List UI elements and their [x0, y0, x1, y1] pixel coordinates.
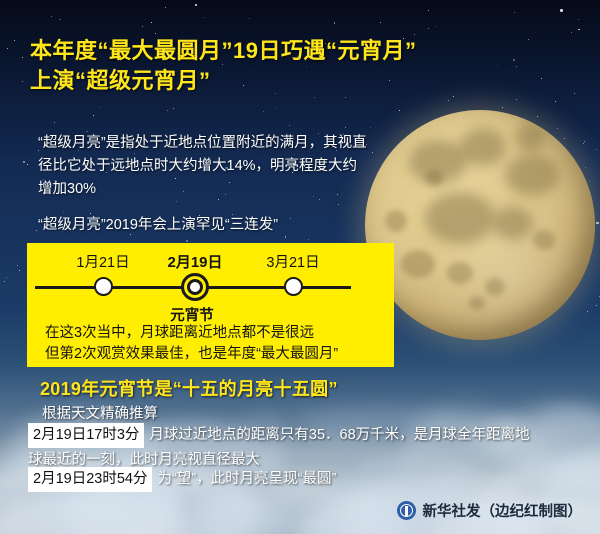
star-dot: [589, 181, 590, 182]
star-dot: [155, 33, 156, 34]
star-dot: [528, 39, 529, 40]
section-heading: 2019年元宵节是“十五的月亮十五圆”: [40, 375, 338, 401]
star-dot: [275, 108, 276, 109]
star-dot: [370, 127, 371, 128]
star-dot: [63, 211, 64, 212]
star-dot: [285, 236, 287, 238]
headline-line-1: 本年度“最大最圆月”19日巧遇“元宵月”: [30, 36, 450, 66]
star-dot: [596, 222, 598, 224]
star-dot: [17, 265, 18, 266]
festival-label: 元宵节: [27, 304, 357, 325]
star-dot: [372, 152, 373, 153]
cloud-wisp: [190, 489, 283, 534]
star-dot: [203, 17, 205, 19]
star-dot: [100, 107, 101, 108]
star-dot: [195, 4, 197, 6]
timeline-node-2[interactable]: [181, 273, 209, 301]
star-dot: [338, 204, 339, 205]
star-dot: [537, 116, 538, 117]
fact-2-text: 为“望”，此时月亮呈现“最圆”: [157, 471, 336, 487]
timeline-note-line-2: 但第2次观赏效果最佳，也是年度“最大最圆月”: [45, 344, 390, 365]
section-subheading: 根据天文精确推算: [42, 402, 158, 423]
star-dot: [596, 305, 597, 306]
star-dot: [448, 100, 449, 101]
star-dot: [23, 161, 25, 163]
star-dot: [22, 81, 23, 82]
fact-row-2: 2月19日23时54分为“望”，此时月亮呈现“最圆”: [28, 467, 578, 492]
star-dot: [345, 127, 346, 128]
star-dot: [142, 26, 143, 27]
star-dot: [585, 167, 586, 168]
star-dot: [263, 111, 264, 112]
star-dot: [345, 97, 346, 98]
star-dot: [555, 101, 556, 102]
star-dot: [22, 57, 23, 58]
headline-line-2: 上演“超级元宵月”: [30, 66, 450, 96]
star-dot: [93, 115, 94, 116]
fact-1-text: 月球过近地点的距离只有35．68万千米，是月球全年距离地: [149, 427, 529, 443]
star-dot: [186, 240, 188, 242]
cloud-wisp: [218, 511, 364, 534]
star-dot: [574, 93, 575, 94]
star-dot: [54, 122, 55, 123]
footer-credit-text: 新华社发（边纪红制图）: [423, 500, 583, 521]
star-dot: [516, 99, 517, 100]
timeline-label-3: 3月21日: [266, 251, 319, 272]
fact-row-1: 2月19日17时3分月球过近地点的距离只有35．68万千米，是月球全年距离地 球…: [28, 423, 578, 471]
star-dot: [51, 16, 52, 17]
infographic-poster: 本年度“最大最圆月”19日巧遇“元宵月” 上演“超级元宵月” “超级月亮”是指处…: [0, 0, 600, 534]
xinhua-logo-icon: [397, 501, 416, 520]
page-title: 本年度“最大最圆月”19日巧遇“元宵月” 上演“超级元宵月”: [30, 36, 450, 96]
intro-subnote: “超级月亮”2019年会上演罕见“三连发”: [38, 214, 378, 236]
star-dot: [151, 22, 152, 23]
cloud-puff: [0, 494, 200, 534]
star-dot: [571, 32, 572, 33]
star-dot: [584, 141, 585, 142]
star-dot: [4, 281, 5, 282]
star-dot: [399, 110, 401, 112]
star-dot: [560, 9, 562, 11]
timeline-node-3[interactable]: [284, 277, 303, 296]
star-dot: [516, 66, 517, 67]
star-dot: [308, 239, 310, 241]
star-dot: [249, 18, 250, 19]
star-dot: [289, 125, 290, 126]
timeline-label-2: 2月19日: [167, 251, 222, 272]
star-dot: [513, 59, 515, 61]
star-dot: [497, 65, 498, 66]
star-dot: [428, 28, 429, 29]
intro-paragraph: “超级月亮”是指处于近地点位置附近的满月，其视直径比它处于远地点时大约增大14%…: [38, 132, 368, 201]
star-dot: [27, 164, 28, 165]
timeline: 1月21日 2月19日 3月21日: [27, 243, 357, 303]
cloud-wisp: [174, 508, 230, 534]
star-dot: [557, 128, 558, 129]
star-dot: [583, 143, 584, 144]
star-dot: [334, 22, 336, 24]
star-dot: [173, 108, 174, 109]
star-dot: [14, 40, 15, 41]
star-dot: [564, 138, 565, 139]
star-dot: [596, 149, 597, 150]
star-dot: [167, 110, 168, 111]
footer-credit: 新华社发（边纪红制图）: [397, 500, 583, 521]
timeline-note-line-1: 在这3次当中，月球距离近地点都不是很远: [45, 323, 390, 344]
star-dot: [436, 26, 437, 27]
star-dot: [453, 96, 454, 97]
star-dot: [578, 29, 580, 31]
star-dot: [541, 78, 542, 79]
star-dot: [7, 48, 8, 49]
star-dot: [6, 277, 7, 278]
star-dot: [380, 22, 381, 23]
star-dot: [314, 97, 315, 98]
fact-2-time-badge: 2月19日23时54分: [28, 467, 152, 492]
star-dot: [165, 7, 166, 8]
star-dot: [19, 270, 20, 271]
star-dot: [502, 107, 503, 108]
timeline-node-1[interactable]: [94, 277, 113, 296]
timeline-note: 在这3次当中，月球距离近地点都不是很远 但第2次观赏效果最佳，也是年度“最大最圆…: [45, 323, 390, 365]
star-dot: [414, 34, 415, 35]
star-dot: [578, 19, 579, 20]
star-dot: [428, 10, 429, 11]
timeline-panel: 1月21日 2月19日 3月21日 元宵节 在这3次当中，月球距离近地点都不是很…: [27, 243, 394, 367]
star-dot: [514, 12, 515, 13]
fact-1-time-badge: 2月19日17时3分: [28, 423, 144, 448]
star-dot: [587, 311, 588, 312]
timeline-label-1: 1月21日: [76, 251, 129, 272]
star-dot: [59, 19, 61, 21]
moon-image: [365, 110, 595, 340]
